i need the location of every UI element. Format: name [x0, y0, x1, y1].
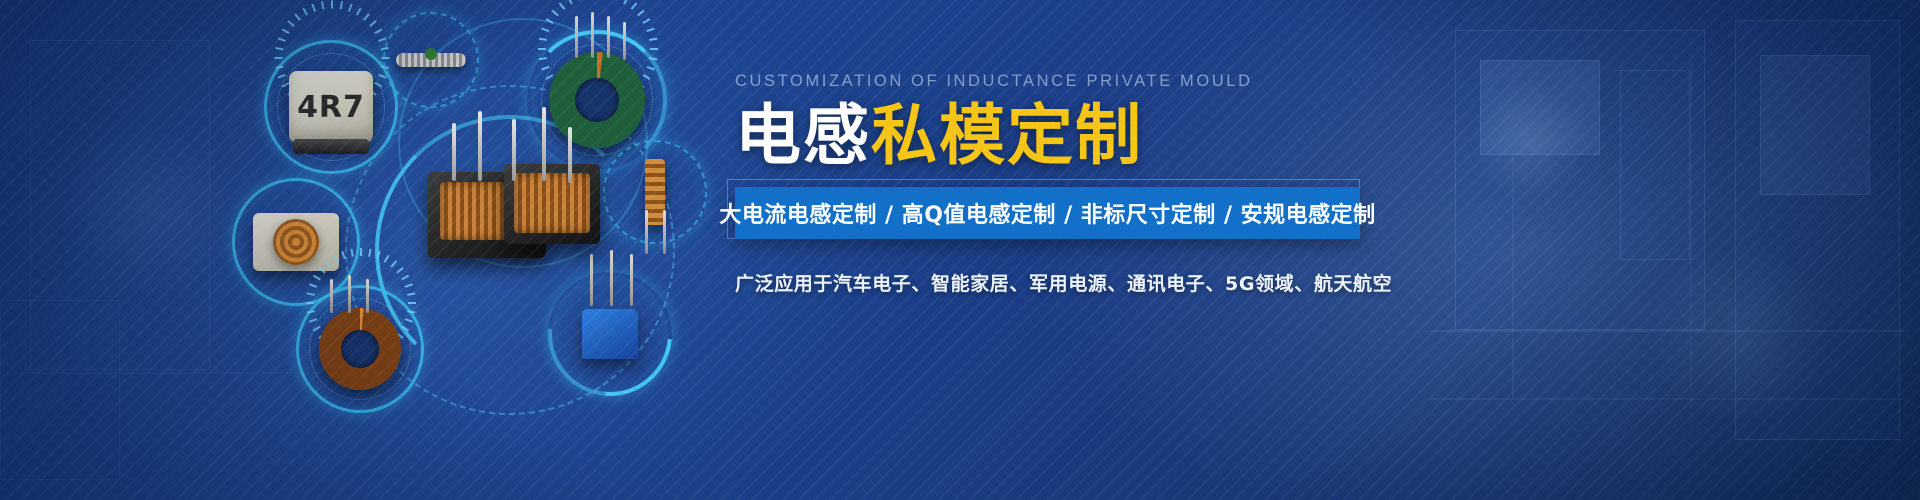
- service-list-bar[interactable]: 大电流电感定制 / 高Q值电感定制 / 非标尺寸定制 / 安规电感定制: [735, 187, 1360, 239]
- ring-tick: [546, 74, 554, 80]
- lead-wire: [623, 22, 626, 60]
- ring-tick: [306, 302, 314, 304]
- lead-wire: [607, 16, 610, 58]
- pin: [478, 111, 482, 181]
- blue-inductor-body: [582, 309, 638, 359]
- copper-winding: [273, 219, 319, 265]
- product-air-coil: [383, 12, 479, 108]
- ring-tick: [649, 38, 657, 41]
- banner-text-column: CUSTOMIZATION OF INDUCTANCE PRIVATE MOUL…: [735, 72, 1435, 296]
- transformer-block-right: [504, 164, 600, 244]
- ring-tick: [275, 47, 283, 50]
- chip-inductor-body: 4R7: [289, 71, 373, 143]
- lead-wire: [366, 279, 369, 313]
- pin: [512, 119, 516, 181]
- ring-tick: [275, 57, 283, 59]
- application-tagline: 广泛应用于汽车电子、智能家居、军用电源、通讯电子、5G领域、航天航空: [735, 269, 1435, 296]
- air-coil-marker: [425, 48, 437, 60]
- pin: [452, 123, 456, 181]
- english-subtitle: CUSTOMIZATION OF INDUCTANCE PRIVATE MOUL…: [735, 72, 1435, 91]
- product-ee-transformer: [400, 105, 630, 295]
- service-list-text: 大电流电感定制 / 高Q值电感定制 / 非标尺寸定制 / 安规电感定制: [719, 197, 1375, 229]
- pin: [542, 107, 546, 181]
- ring-tick: [538, 48, 546, 50]
- copper-coil: [514, 173, 590, 233]
- ring-tick: [307, 292, 315, 295]
- ring-tick: [650, 48, 658, 50]
- lead-wire: [575, 16, 578, 58]
- lead-wire: [645, 210, 648, 254]
- ring-tick: [313, 325, 321, 331]
- ring-tick: [331, 1, 333, 9]
- ring-tick: [539, 38, 547, 41]
- headline-part-white: 电感: [735, 97, 871, 174]
- lead-wire: [663, 210, 666, 254]
- headline-part-gold: 私模定制: [871, 97, 1143, 174]
- lead-wire: [630, 254, 633, 306]
- hero-banner: 4R7: [0, 0, 1920, 500]
- toroid-body: [319, 308, 401, 390]
- lead-wire: [591, 12, 594, 58]
- lead-wire: [330, 279, 333, 313]
- rod-coil-body: [645, 159, 665, 225]
- ring-tick: [360, 248, 362, 256]
- ring-tick: [408, 302, 416, 304]
- lead-wire: [348, 275, 351, 313]
- product-chip-inductor: 4R7: [264, 40, 398, 174]
- chip-marking-label: 4R7: [297, 90, 365, 125]
- service-bar-wrapper: 大电流电感定制 / 高Q值电感定制 / 非标尺寸定制 / 安规电感定制: [735, 187, 1360, 239]
- product-green-toroid: [296, 285, 424, 413]
- page-title: 电感私模定制: [735, 101, 1435, 171]
- pin: [568, 127, 572, 183]
